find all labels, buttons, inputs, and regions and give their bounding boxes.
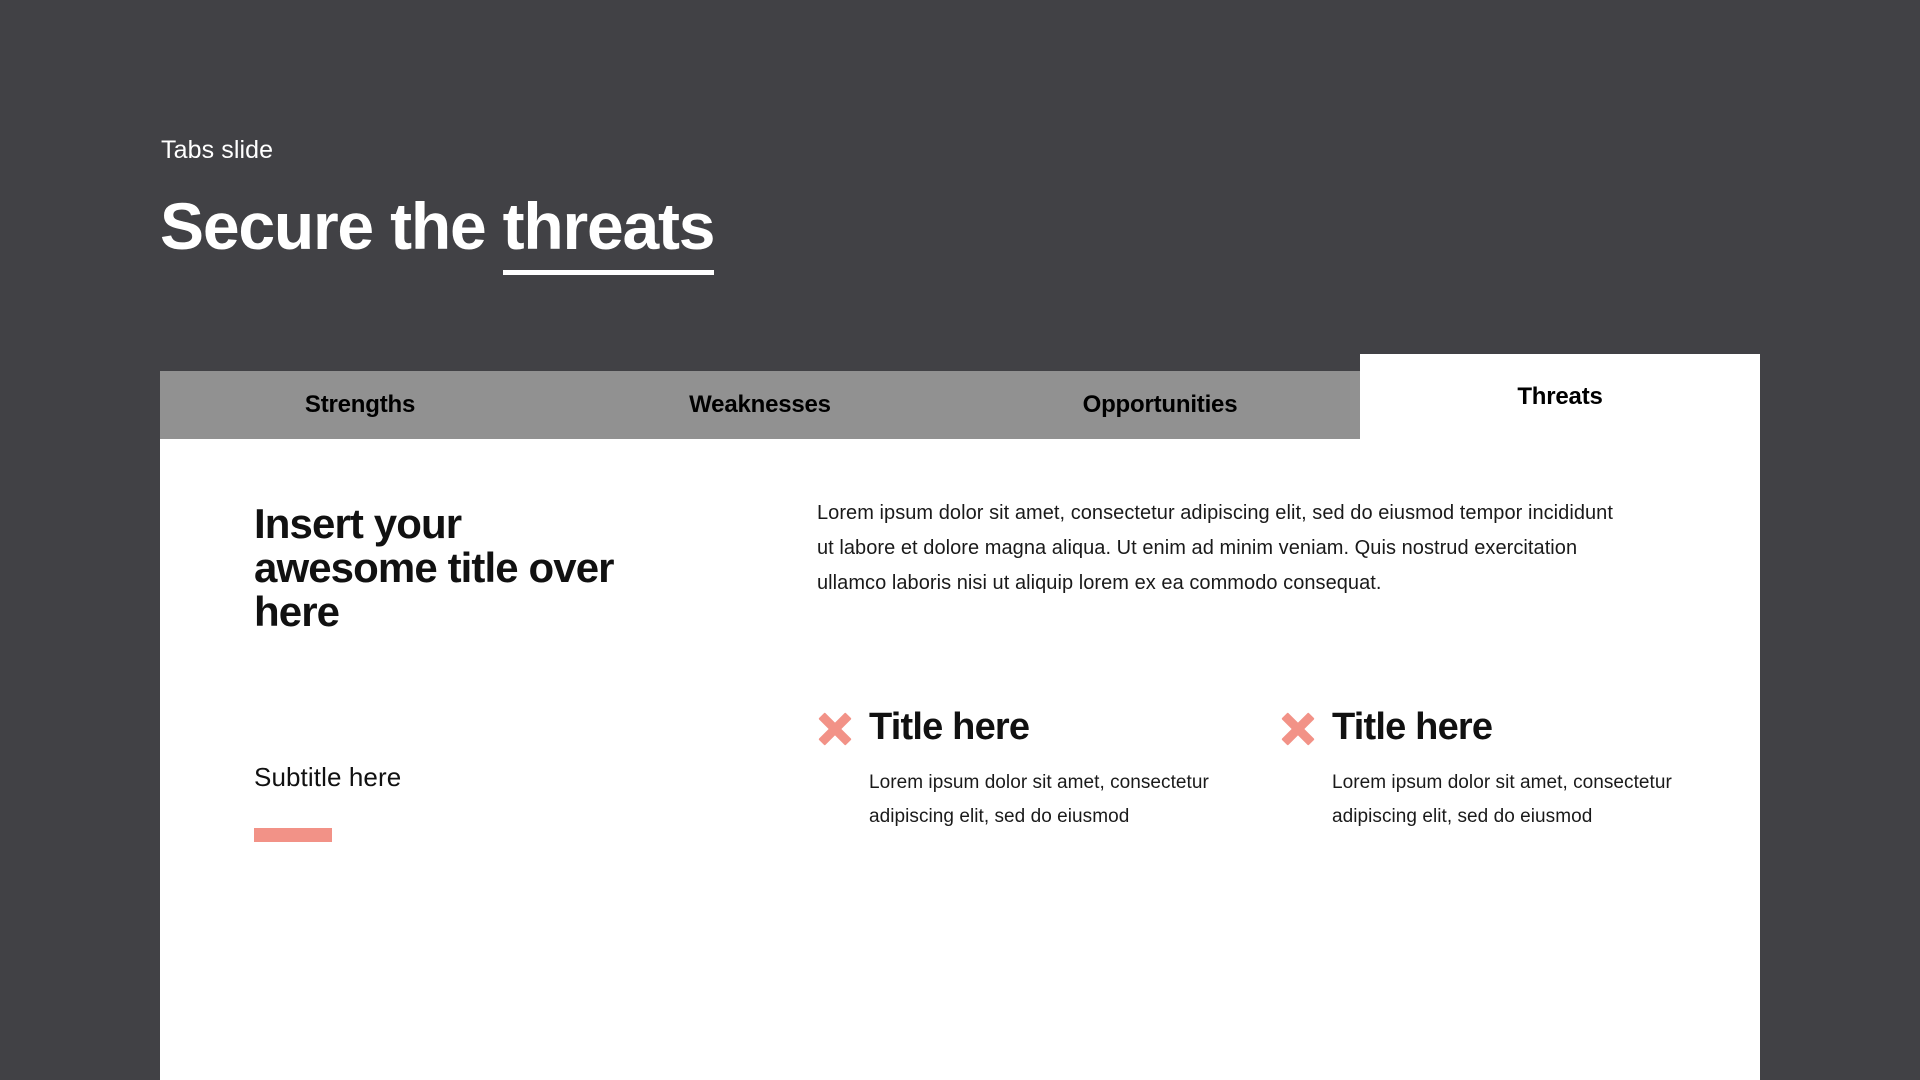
feature-card: Title here Lorem ipsum dolor sit amet, c…	[817, 707, 1212, 834]
feature-description: Lorem ipsum dolor sit amet, consectetur …	[869, 766, 1214, 834]
tab-strengths[interactable]: Strengths	[160, 371, 560, 439]
x-mark-icon	[1280, 711, 1316, 747]
feature-header: Title here	[1280, 707, 1675, 749]
headline-prefix: Secure the	[160, 189, 503, 263]
slide-kicker: Tabs slide	[161, 135, 273, 165]
panel-subtitle: Subtitle here	[254, 762, 734, 793]
tab-weaknesses-label: Weaknesses	[689, 391, 831, 419]
tab-opportunities-label: Opportunities	[1083, 391, 1238, 419]
feature-description: Lorem ipsum dolor sit amet, consectetur …	[1332, 766, 1677, 834]
tab-content-threats: Insert your awesome title over here Subt…	[160, 439, 1760, 1080]
headline-emphasis: threats	[503, 189, 715, 275]
body-paragraph: Lorem ipsum dolor sit amet, consectetur …	[817, 496, 1617, 602]
feature-title: Title here	[1332, 707, 1492, 749]
x-mark-icon	[817, 711, 853, 747]
left-column: Insert your awesome title over here Subt…	[254, 502, 734, 842]
tab-threats-label: Threats	[1517, 383, 1602, 411]
page-title: Secure the threats	[160, 190, 714, 263]
feature-card: Title here Lorem ipsum dolor sit amet, c…	[1280, 707, 1675, 834]
feature-header: Title here	[817, 707, 1212, 749]
tab-strengths-label: Strengths	[305, 391, 415, 419]
feature-list: Title here Lorem ipsum dolor sit amet, c…	[817, 707, 1672, 834]
feature-title: Title here	[869, 707, 1029, 749]
right-column: Lorem ipsum dolor sit amet, consectetur …	[817, 496, 1672, 834]
tab-opportunities[interactable]: Opportunities	[960, 371, 1360, 439]
panel-title: Insert your awesome title over here	[254, 502, 654, 634]
tab-threats[interactable]: Threats	[1360, 354, 1760, 439]
tab-weaknesses[interactable]: Weaknesses	[560, 371, 960, 439]
accent-bar	[254, 828, 332, 842]
tab-panel: Strengths Weaknesses Opportunities Threa…	[160, 354, 1760, 1080]
